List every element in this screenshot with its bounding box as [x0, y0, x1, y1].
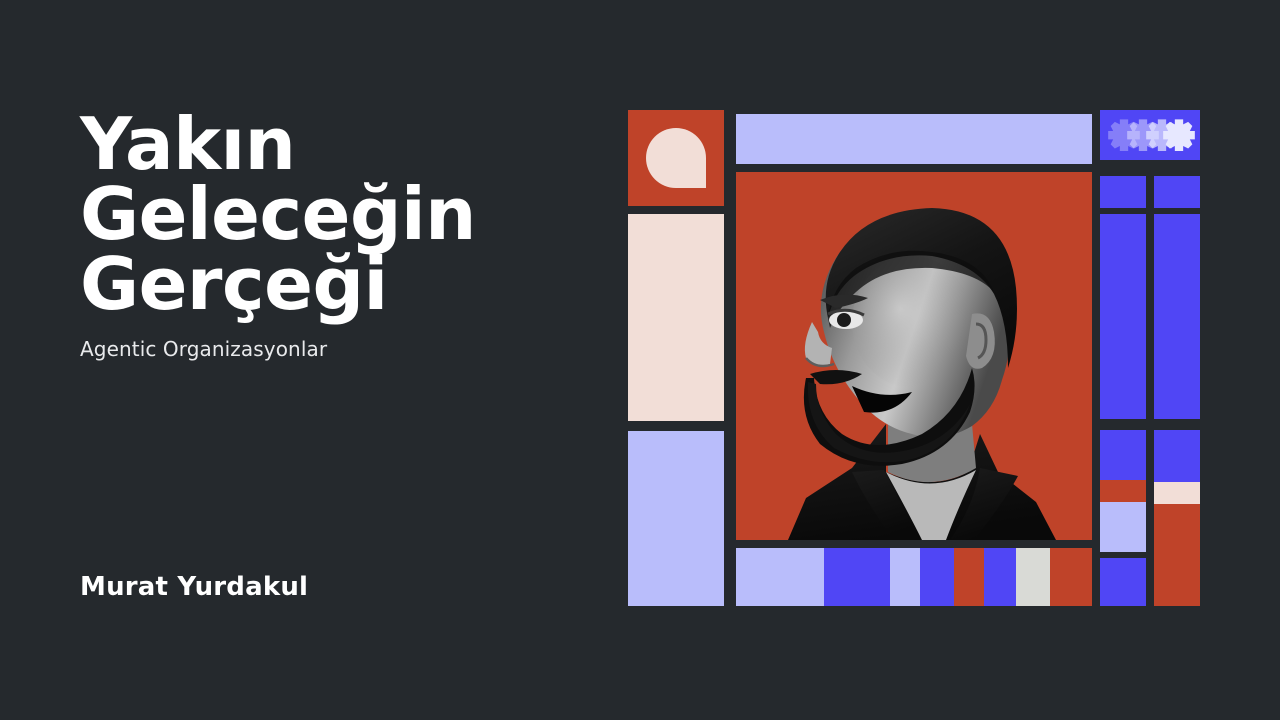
collage-grid — [628, 110, 1200, 606]
blue-tall-tile — [1100, 214, 1146, 419]
blue-tile — [1100, 430, 1146, 480]
blue-tile — [1100, 558, 1146, 606]
color-strip-segment — [920, 548, 954, 606]
teardrop-icon — [646, 128, 706, 188]
color-strip-segment — [1016, 548, 1050, 606]
color-strip-segment — [736, 548, 824, 606]
pink-tile — [1154, 482, 1200, 504]
page-title: Yakın Geleceğin Gerçeği — [80, 110, 580, 319]
color-strip — [736, 548, 1092, 606]
blue-tile — [1100, 176, 1146, 208]
lavender-tile — [1100, 502, 1146, 552]
lavender-tall-tile — [628, 431, 724, 606]
blue-tile — [1154, 176, 1200, 208]
color-strip-segment — [824, 548, 890, 606]
portrait-photo — [736, 172, 1092, 540]
color-strip-segment — [984, 548, 1016, 606]
author-name: Murat Yurdakul — [80, 572, 308, 602]
blue-tile — [1154, 430, 1200, 482]
page-subtitle: Agentic Organizasyonlar — [80, 337, 580, 361]
orange-tall-tile — [1154, 504, 1200, 606]
gear-icon — [1157, 116, 1200, 156]
color-strip-segment — [890, 548, 920, 606]
gear-group — [1100, 110, 1200, 160]
orange-tile — [1100, 480, 1146, 502]
lavender-header-bar — [736, 114, 1092, 164]
orange-tile-with-teardrop — [628, 110, 724, 206]
blue-tall-tile — [1154, 214, 1200, 419]
color-strip-segment — [954, 548, 984, 606]
gear-cluster-tile — [1100, 110, 1200, 160]
presentation-slide: Yakın Geleceğin Gerçeği Agentic Organiza… — [0, 0, 1280, 720]
color-strip-segment — [1050, 548, 1092, 606]
portrait-image — [736, 172, 1092, 540]
pink-tall-tile — [628, 214, 724, 421]
title-block: Yakın Geleceğin Gerçeği Agentic Organiza… — [80, 110, 580, 361]
